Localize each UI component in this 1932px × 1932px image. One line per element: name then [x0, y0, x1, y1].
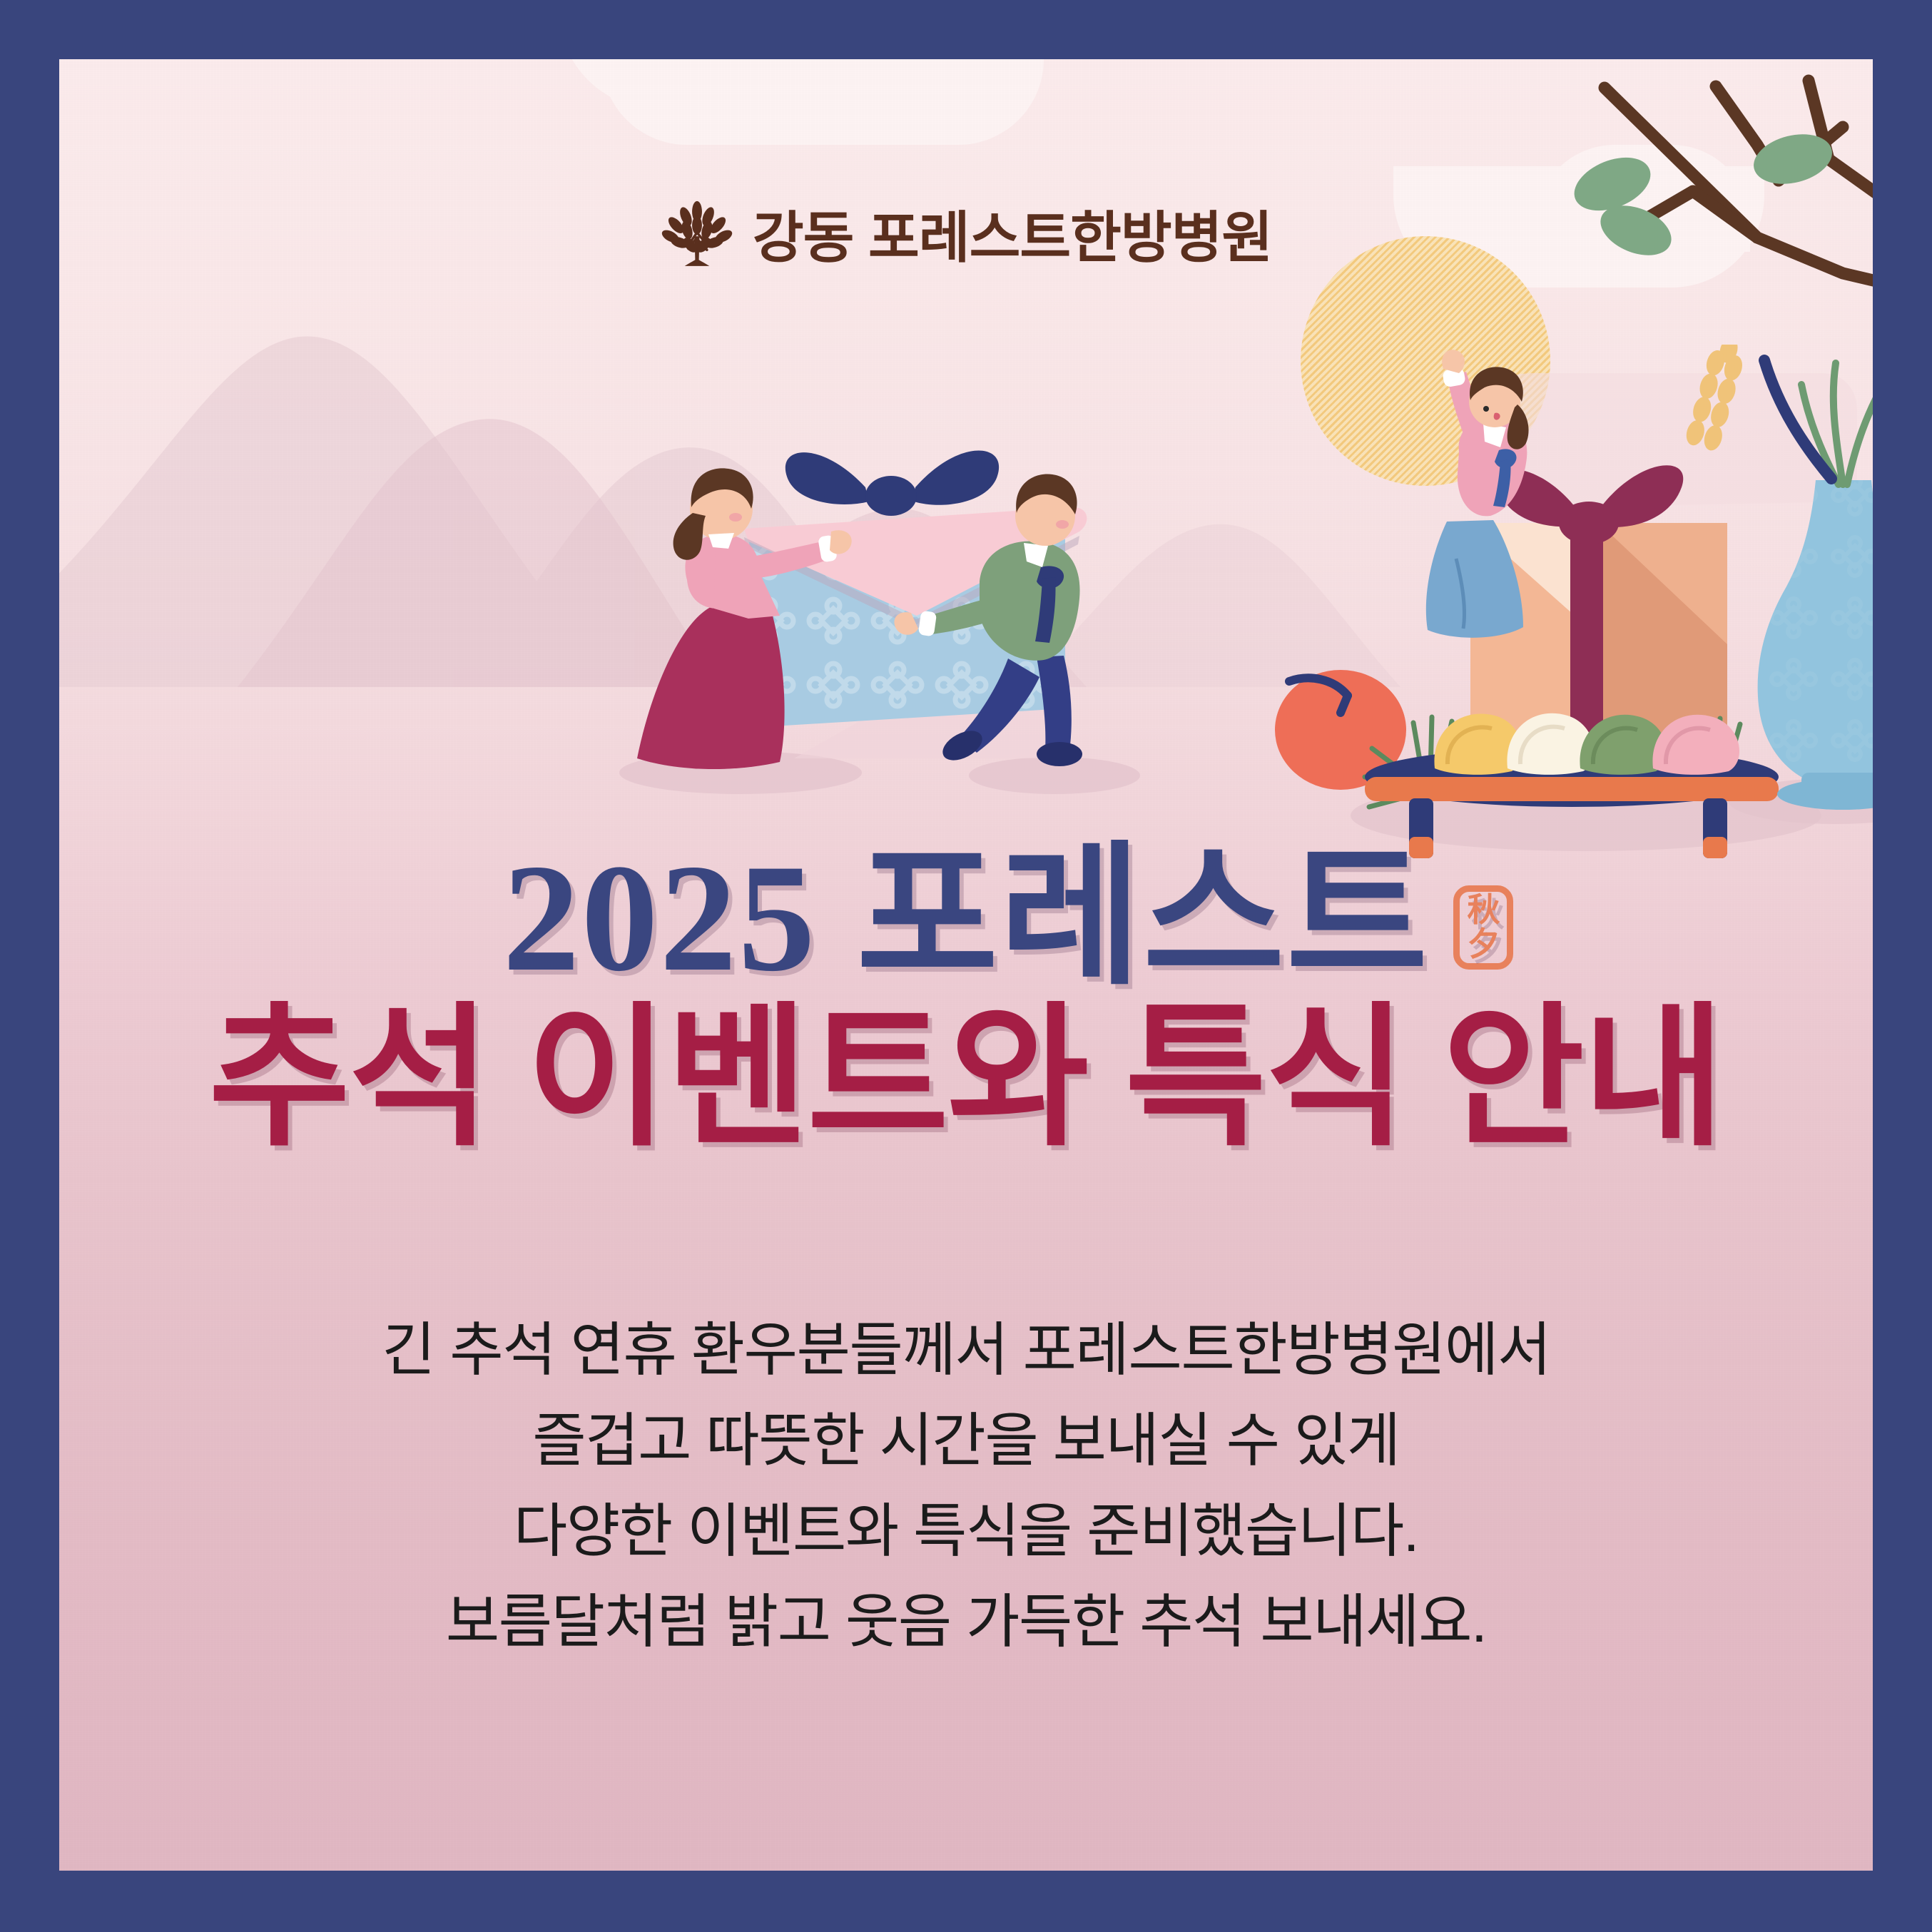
tree-icon [660, 200, 734, 275]
title-line1-text: 2025 포레스트 [503, 833, 1430, 1003]
body-line: 긴 추석 연휴 환우분들께서 포레스트한방병원에서 [59, 1316, 1873, 1384]
chuseok-seal-stamp: 秋 夕 [1453, 885, 1513, 970]
body-line: 다양한 이벤트와 특식을 준비했습니다. [59, 1498, 1873, 1565]
brand-logo: 강동 포레스트한방병원 [59, 200, 1873, 275]
shoe [1037, 742, 1082, 766]
body-line: 보름달처럼 밝고 웃음 가득한 추석 보내세요. [59, 1588, 1873, 1656]
couple-carrying-gift-envelope [609, 402, 1179, 815]
seal-char-autumn: 秋 [1467, 893, 1500, 927]
seal-char-evening: 夕 [1467, 927, 1500, 962]
page-title-line2: 추석 이벤트와 특식 안내 [59, 1000, 1873, 1160]
gift-bow-icon [785, 450, 999, 516]
chuseok-still-life-scene [1272, 345, 1873, 858]
body-copy: 긴 추석 연휴 환우분들께서 포레스트한방병원에서 즐겁고 따뜻한 시간을 보내… [59, 1316, 1873, 1656]
title-block: 2025 포레스트 秋 夕 추석 이벤트와 특식 안내 [59, 841, 1873, 1160]
celadon-vase [1758, 480, 1873, 810]
brand-name: 강동 포레스트한방병원 [753, 210, 1272, 265]
waving-hanbok-woman [1426, 350, 1529, 638]
page-title-line1: 2025 포레스트 秋 夕 [503, 841, 1430, 995]
body-line: 즐겁고 따뜻한 시간을 보내실 수 있게 [59, 1407, 1873, 1475]
poster-canvas: 강동 포레스트한방병원 [59, 59, 1873, 1871]
chuseok-event-poster: 강동 포레스트한방병원 [0, 0, 1932, 1932]
